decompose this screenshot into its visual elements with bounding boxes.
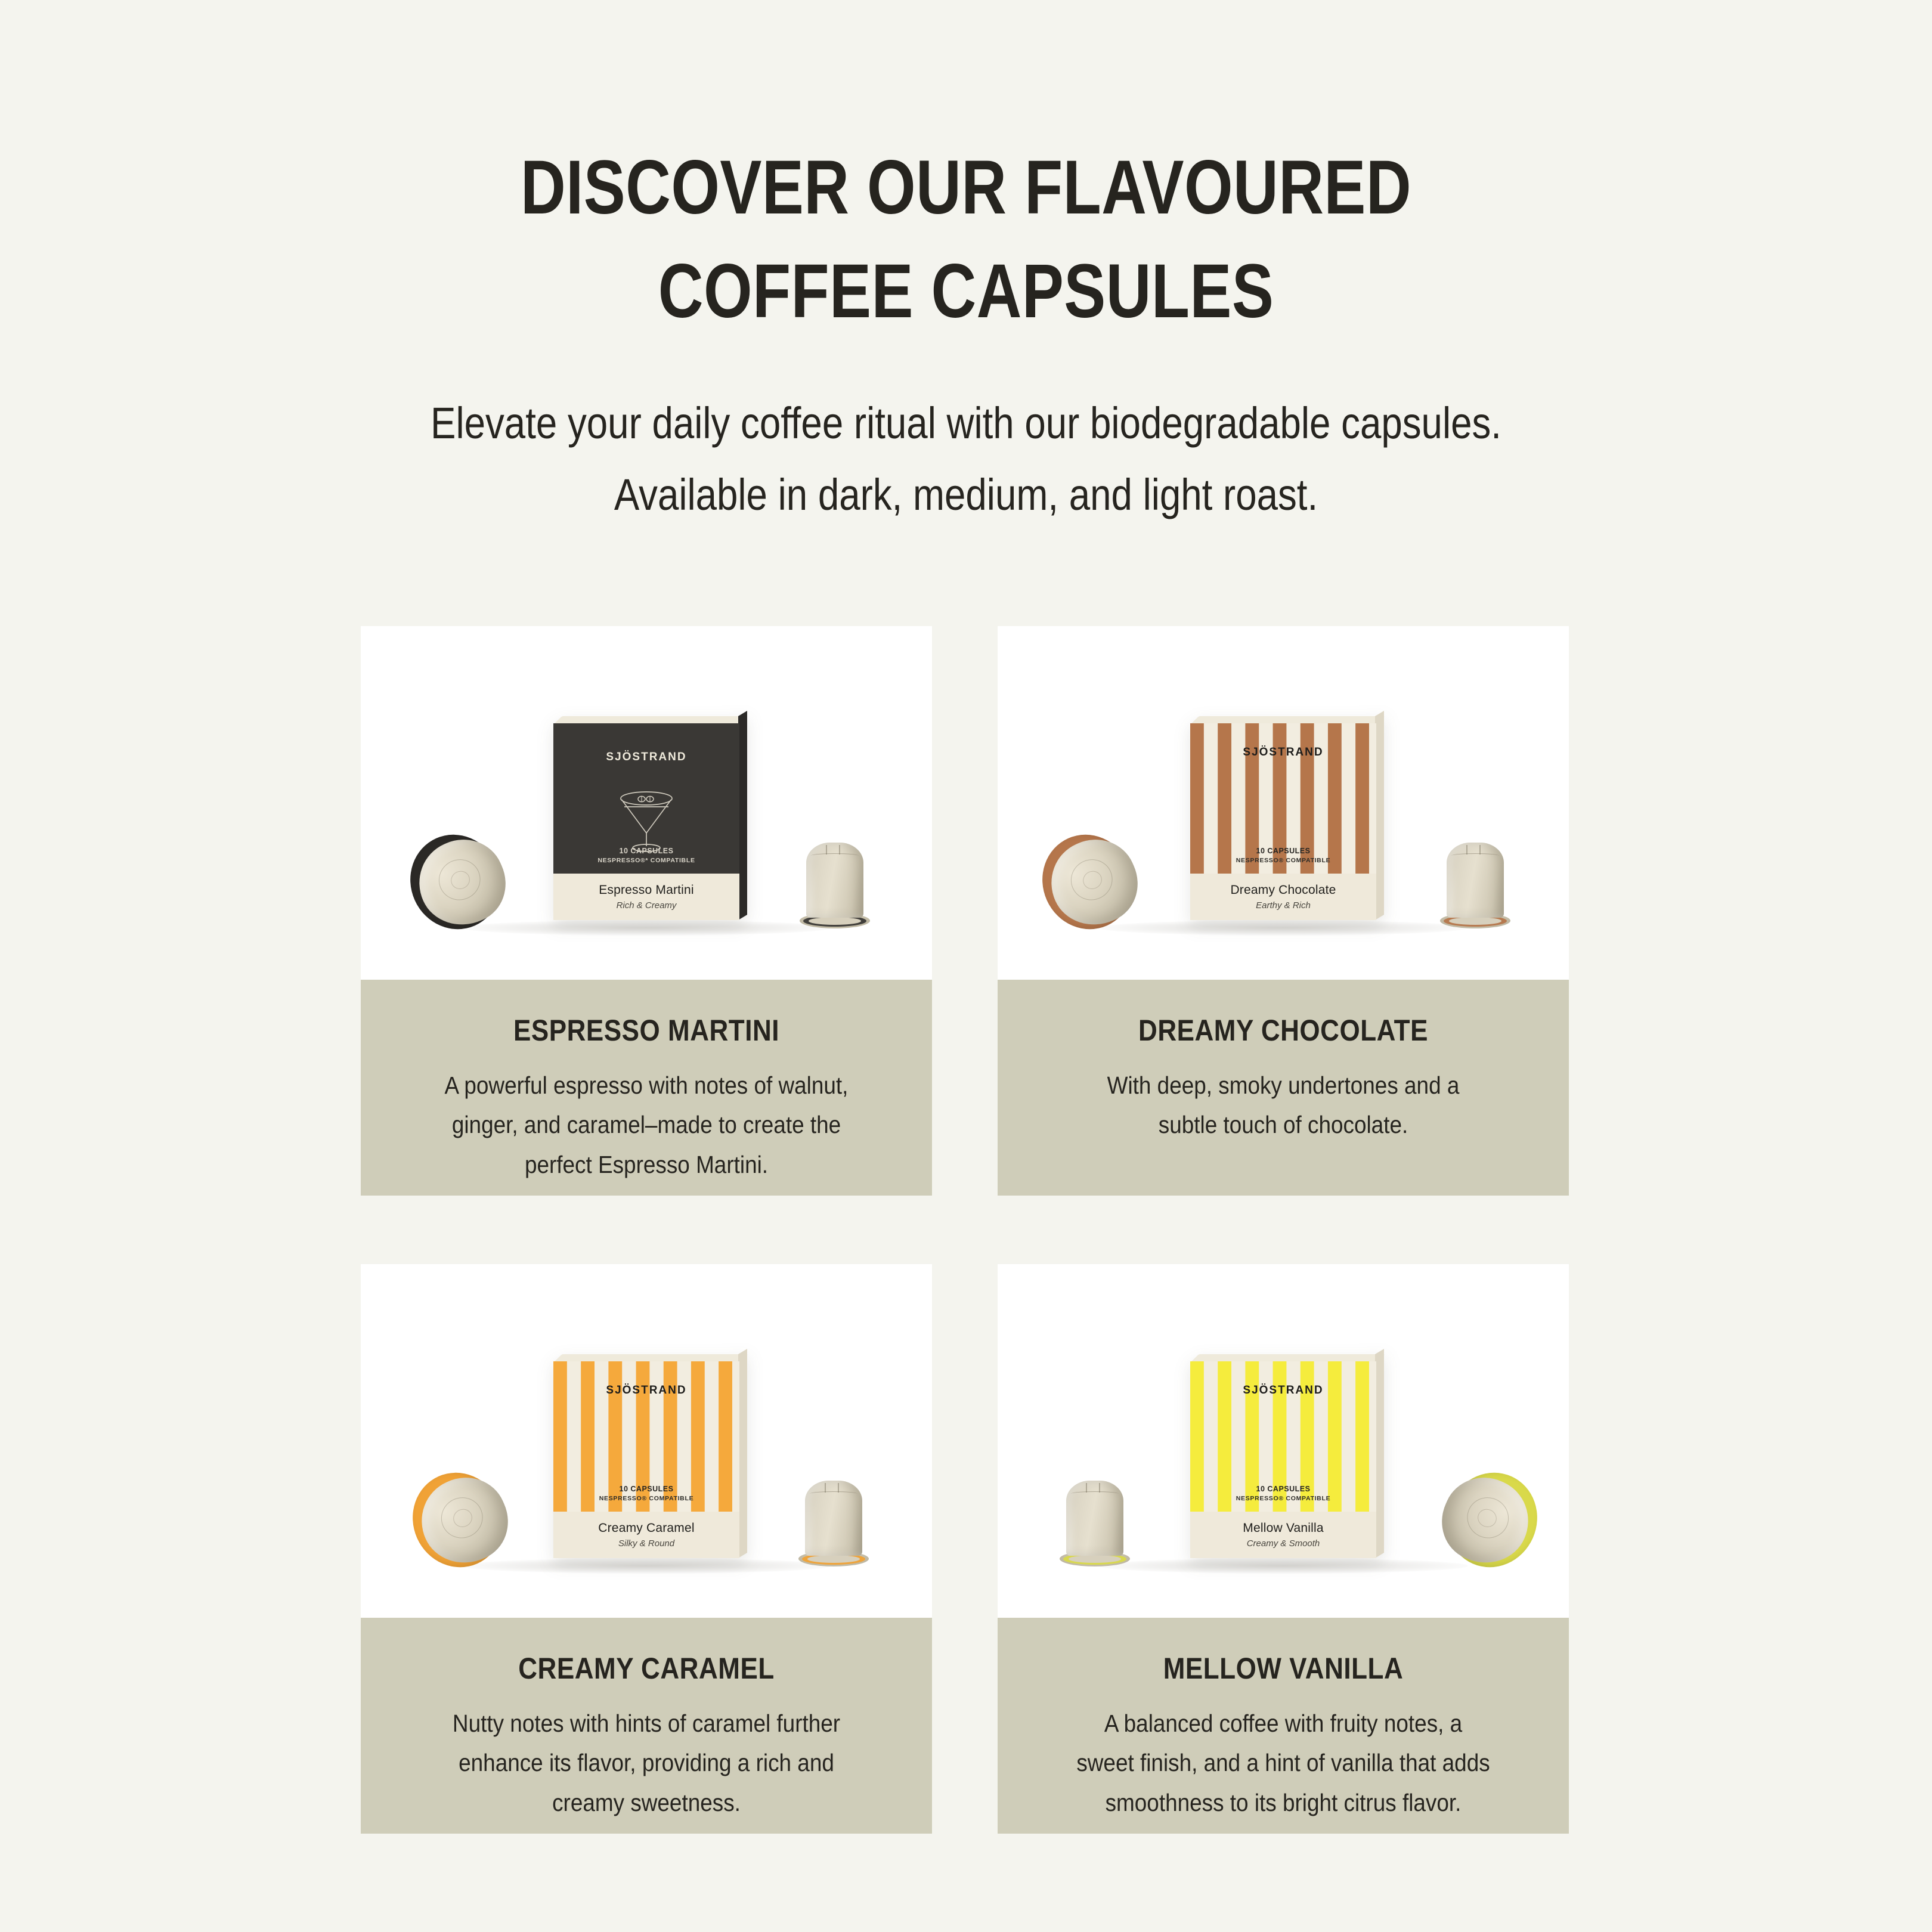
product-photo-mellow-vanilla: SJÖSTRAND 10 CAPSULES NESPRESSO® COMPATI… (998, 1264, 1569, 1618)
card-description: A balanced coffee with fruity notes, a s… (1076, 1704, 1491, 1822)
card-title: MELLOW VANILLA (1080, 1651, 1486, 1686)
card-caption-creamy-caramel: CREAMY CARAMEL Nutty notes with hints of… (361, 1618, 932, 1834)
martini-glass-icon (613, 778, 680, 854)
card-caption-mellow-vanilla: MELLOW VANILLA A balanced coffee with fr… (998, 1618, 1569, 1834)
page-title: DISCOVER OUR FLAVOURED COFFEE CAPSULES (174, 136, 1758, 343)
product-card-dreamy-chocolate[interactable]: SJÖSTRAND 10 CAPSULES NESPRESSO® COMPATI… (998, 626, 1569, 1196)
box-flavour-tagline: Rich & Creamy (617, 900, 677, 911)
product-box: SJÖSTRAND 10 CAPSULES NESPRESSO® COMPATI… (553, 1361, 739, 1558)
box-brand-label: SJÖSTRAND (1190, 746, 1376, 759)
card-description: With deep, smoky undertones and a subtle… (1076, 1066, 1491, 1145)
card-title: CREAMY CARAMEL (443, 1651, 849, 1686)
product-photo-espresso-martini: SJÖSTRAND 10 CAPSULES (361, 626, 932, 980)
shadow (1098, 1558, 1468, 1574)
card-caption-espresso-martini: ESPRESSO MARTINI A powerful espresso wit… (361, 980, 932, 1196)
box-brand-label: SJÖSTRAND (553, 751, 739, 764)
box-meta: 10 CAPSULES NESPRESSO® COMPATIBLE (553, 1484, 739, 1503)
product-box: SJÖSTRAND 10 CAPSULES NESPRESSO® COMPATI… (1190, 723, 1376, 920)
capsule-tilted (1433, 1470, 1538, 1570)
box-capsule-count: 10 CAPSULES (1190, 1484, 1376, 1494)
hero-section: DISCOVER OUR FLAVOURED COFFEE CAPSULES E… (0, 0, 1932, 531)
box-flavour-band: Dreamy Chocolate Earthy & Rich (1190, 874, 1376, 920)
box-flavour-name: Creamy Caramel (598, 1521, 695, 1535)
box-meta: 10 CAPSULES NESPRESSO® COMPATIBLE (1190, 846, 1376, 865)
box-capsule-count: 10 CAPSULES (1190, 846, 1376, 856)
box-flavour-band: Espresso Martini Rich & Creamy (553, 874, 739, 920)
capsule-upright (1060, 1477, 1130, 1566)
card-description: A powerful espresso with notes of walnut… (439, 1066, 854, 1184)
shadow (462, 920, 831, 936)
capsule-upright (800, 839, 870, 928)
card-title: ESPRESSO MARTINI (443, 1013, 849, 1048)
box-meta: 10 CAPSULES NESPRESSO® COMPATIBLE (1190, 1484, 1376, 1503)
page-subtitle: Elevate your daily coffee ritual with ou… (135, 388, 1797, 531)
capsule-tilted (1042, 832, 1147, 932)
card-title: DREAMY CHOCOLATE (1080, 1013, 1486, 1048)
box-meta: 10 CAPSULES NESPRESSO®* COMPATIBLE (553, 846, 739, 865)
box-compatibility: NESPRESSO® COMPATIBLE (1190, 856, 1376, 865)
box-flavour-name: Mellow Vanilla (1243, 1521, 1323, 1535)
card-caption-dreamy-chocolate: DREAMY CHOCOLATE With deep, smoky undert… (998, 980, 1569, 1196)
shadow (462, 1558, 831, 1574)
box-flavour-tagline: Earthy & Rich (1256, 900, 1311, 911)
product-card-espresso-martini[interactable]: SJÖSTRAND 10 CAPSULES (361, 626, 932, 1196)
box-compatibility: NESPRESSO® COMPATIBLE (1190, 1494, 1376, 1503)
capsule-upright (798, 1477, 869, 1566)
product-photo-dreamy-chocolate: SJÖSTRAND 10 CAPSULES NESPRESSO® COMPATI… (998, 626, 1569, 980)
box-capsule-count: 10 CAPSULES (553, 1484, 739, 1494)
product-grid: SJÖSTRAND 10 CAPSULES (361, 626, 1569, 1834)
shadow (1098, 920, 1468, 936)
box-capsule-count: 10 CAPSULES (553, 846, 739, 856)
product-card-mellow-vanilla[interactable]: SJÖSTRAND 10 CAPSULES NESPRESSO® COMPATI… (998, 1264, 1569, 1834)
product-box: SJÖSTRAND 10 CAPSULES NESPRESSO® COMPATI… (1190, 1361, 1376, 1558)
box-compatibility: NESPRESSO® COMPATIBLE (553, 1494, 739, 1503)
product-box: SJÖSTRAND 10 CAPSULES (553, 723, 739, 920)
card-description: Nutty notes with hints of caramel furthe… (439, 1704, 854, 1822)
box-brand-label: SJÖSTRAND (553, 1384, 739, 1397)
promo-page: DISCOVER OUR FLAVOURED COFFEE CAPSULES E… (0, 0, 1932, 1932)
box-flavour-name: Espresso Martini (599, 883, 694, 897)
box-flavour-band: Mellow Vanilla Creamy & Smooth (1190, 1512, 1376, 1558)
box-flavour-tagline: Creamy & Smooth (1247, 1538, 1320, 1549)
box-flavour-band: Creamy Caramel Silky & Round (553, 1512, 739, 1558)
product-photo-creamy-caramel: SJÖSTRAND 10 CAPSULES NESPRESSO® COMPATI… (361, 1264, 932, 1618)
box-brand-label: SJÖSTRAND (1190, 1384, 1376, 1397)
capsule-tilted (412, 1470, 517, 1570)
box-compatibility: NESPRESSO®* COMPATIBLE (553, 856, 739, 865)
product-card-creamy-caramel[interactable]: SJÖSTRAND 10 CAPSULES NESPRESSO® COMPATI… (361, 1264, 932, 1834)
capsule-upright (1440, 839, 1510, 928)
box-flavour-tagline: Silky & Round (618, 1538, 674, 1549)
capsule-tilted (410, 832, 515, 932)
box-flavour-name: Dreamy Chocolate (1230, 883, 1336, 897)
